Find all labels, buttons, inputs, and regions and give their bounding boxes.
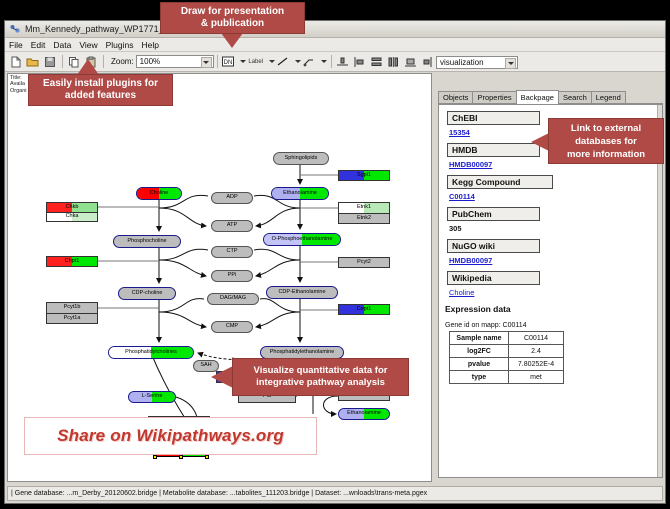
node-ppi[interactable]: PPi — [211, 270, 253, 282]
expr-key-log2fc: log2FC — [450, 345, 509, 358]
node-sgpl1[interactable]: Sgpl1 — [338, 170, 390, 181]
menu-item-help[interactable]: Help — [142, 40, 159, 50]
align-bottom-icon[interactable] — [403, 54, 418, 69]
gene-id-on-mapp: Gene id on mapp: C00114 — [445, 322, 662, 329]
zoom-value: 100% — [140, 57, 160, 66]
node-choline-top[interactable]: Choline — [136, 187, 182, 200]
table-row: type met — [450, 371, 564, 384]
db-link-kegg[interactable]: C00114 — [449, 192, 662, 201]
tab-objects[interactable]: Objects — [438, 91, 473, 103]
node-pcyt1b[interactable]: Pcyt1b — [46, 302, 98, 313]
pathvisio-icon — [9, 23, 21, 35]
line-tool[interactable] — [276, 54, 301, 69]
open-folder-icon[interactable] — [25, 54, 40, 69]
expression-table: Sample name C00114 log2FC 2.4 pvalue 7.8… — [449, 331, 564, 384]
node-cept1[interactable]: Cept1 — [338, 304, 390, 315]
chevron-down-icon[interactable] — [505, 58, 516, 69]
toolbar-separator — [217, 55, 218, 68]
datanode-icon[interactable]: DN — [221, 54, 236, 69]
callout-link: Link to external databases for more info… — [548, 118, 664, 164]
share-banner: Share on Wikipathways.org — [24, 417, 317, 455]
tab-search[interactable]: Search — [558, 91, 592, 103]
expr-val-sample: C00114 — [509, 332, 564, 345]
callout-plugins-line2: added features — [65, 90, 136, 102]
menu-item-edit[interactable]: Edit — [31, 40, 46, 50]
db-header-hmdb: HMDB — [447, 143, 540, 157]
db-header-nugo: NuGO wiki — [447, 239, 540, 253]
label-icon[interactable]: Label — [247, 54, 265, 69]
align-left-icon[interactable] — [352, 54, 367, 69]
expr-key-pvalue: pvalue — [450, 358, 509, 371]
callout-visualize-line1: Visualize quantitative data for — [254, 365, 388, 377]
callout-link-arrow-icon — [531, 133, 549, 151]
label-tool[interactable]: Label — [247, 54, 275, 69]
db-header-wikipedia: Wikipedia — [447, 271, 540, 285]
visualization-combo[interactable]: visualization — [436, 56, 518, 69]
expr-val-pvalue: 7.80252E-4 — [509, 358, 564, 371]
expression-data-title: Expression data — [445, 304, 662, 314]
callout-visualize: Visualize quantitative data for integrat… — [232, 358, 409, 396]
toolbar-separator — [103, 55, 104, 68]
align-right-icon[interactable] — [420, 54, 435, 69]
db-header-pubchem: PubChem — [447, 207, 540, 221]
node-l-serine-left[interactable]: L-Serine — [128, 391, 176, 403]
interaction-tool[interactable] — [302, 54, 327, 69]
node-chkb[interactable]: Chkb — [46, 202, 98, 212]
db-value-pubchem: 305 — [449, 224, 662, 233]
expr-val-type: met — [509, 371, 564, 384]
callout-draw-arrow-icon — [221, 33, 243, 48]
callout-plugins-arrow-icon — [77, 59, 99, 75]
expr-key-sample: Sample name — [450, 332, 509, 345]
node-adp[interactable]: ADP — [211, 192, 253, 204]
toolbar-separator — [331, 55, 332, 68]
callout-link-line1: Link to external — [571, 122, 641, 135]
node-phosphocholine[interactable]: Phosphocholine — [113, 235, 181, 248]
node-ctp[interactable]: CTP — [211, 246, 253, 258]
tab-legend[interactable]: Legend — [591, 91, 626, 103]
side-panel-tabs[interactable]: Objects Properties Backpage Search Legen… — [438, 90, 663, 104]
tab-backpage[interactable]: Backpage — [516, 90, 559, 104]
zoom-combo[interactable]: 100% — [136, 55, 214, 68]
table-row: log2FC 2.4 — [450, 345, 564, 358]
menu-item-data[interactable]: Data — [53, 40, 71, 50]
line-icon[interactable] — [276, 54, 291, 69]
status-bar-text: | Gene database: ...m_Derby_20120602.bri… — [11, 490, 427, 497]
node-phosphatidylcholines[interactable]: Phosphatidylcholines — [108, 346, 194, 359]
node-o-phosphoethanolamine[interactable]: O-Phosphoethanolamine — [263, 233, 341, 246]
callout-visualize-line2: integrative pathway analysis — [256, 377, 385, 389]
pathway-info: Title: Availa Organi — [10, 75, 27, 94]
share-banner-text: Share on Wikipathways.org — [57, 426, 284, 446]
table-row: pvalue 7.80252E-4 — [450, 358, 564, 371]
new-file-icon[interactable] — [8, 54, 23, 69]
callout-draw-line2: & publication — [201, 18, 264, 30]
menu-item-plugins[interactable]: Plugins — [106, 40, 134, 50]
callout-draw: Draw for presentation & publication — [160, 2, 305, 34]
menu-bar[interactable]: File Edit Data View Plugins Help — [5, 38, 665, 52]
node-chpt1[interactable]: Chpt1 — [46, 256, 98, 267]
expr-key-type: type — [450, 371, 509, 384]
distribute-horizontal-icon[interactable] — [386, 54, 401, 69]
callout-link-line2: databases for — [575, 135, 637, 148]
screenshot-root: Mm_Kennedy_pathway_WP1771_45176.gpml Fil… — [0, 0, 670, 509]
callout-plugins-line1: Easily install plugins for — [43, 78, 158, 90]
pathway-info-organism: Organi — [10, 88, 27, 94]
zoom-label: Zoom: — [111, 57, 134, 66]
db-header-kegg: Kegg Compound — [447, 175, 553, 189]
callout-link-line3: more information — [567, 148, 645, 161]
expr-val-log2fc: 2.4 — [509, 345, 564, 358]
node-sphingolipids[interactable]: Sphingolipids — [273, 152, 329, 165]
callout-plugins: Easily install plugins for added feature… — [28, 74, 173, 106]
save-icon[interactable] — [42, 54, 57, 69]
table-row: Sample name C00114 — [450, 332, 564, 345]
node-etnk2[interactable]: Etnk2 — [338, 213, 390, 224]
node-ethanolamine-right[interactable]: Ethanolamine — [338, 408, 390, 420]
node-dag-mag[interactable]: DAG/MAG — [207, 293, 259, 305]
node-atp[interactable]: ATP — [211, 220, 253, 232]
align-top-icon[interactable] — [335, 54, 350, 69]
toolbar[interactable]: Zoom: 100% DN Label — [5, 52, 665, 72]
svg-text:DN: DN — [224, 60, 233, 66]
node-ethanolamine[interactable]: Ethanolamine — [271, 187, 329, 200]
distribute-vertical-icon[interactable] — [369, 54, 384, 69]
window-titlebar: Mm_Kennedy_pathway_WP1771_45176.gpml — [5, 21, 665, 38]
node-pcyt1a[interactable]: Pcyt1a — [46, 313, 98, 324]
db-header-chebi: ChEBI — [447, 111, 540, 125]
callout-draw-line1: Draw for presentation — [181, 6, 284, 18]
chevron-down-icon[interactable] — [201, 57, 212, 68]
status-bar: | Gene database: ...m_Derby_20120602.bri… — [7, 486, 663, 501]
node-cdp-choline[interactable]: CDP-choline — [118, 287, 176, 300]
menu-item-view[interactable]: View — [79, 40, 97, 50]
node-etnk1[interactable]: Etnk1 — [338, 202, 390, 213]
node-cmp[interactable]: CMP — [211, 321, 253, 333]
toolbar-separator — [62, 55, 63, 68]
menu-item-file[interactable]: File — [9, 40, 23, 50]
node-pcyt2[interactable]: Pcyt2 — [338, 257, 390, 268]
interaction-icon[interactable] — [302, 54, 317, 69]
pathway-info-available: Availa — [10, 81, 27, 87]
tab-properties[interactable]: Properties — [472, 91, 516, 103]
node-chka[interactable]: Chka — [46, 212, 98, 222]
db-link-wikipedia[interactable]: Choline — [449, 288, 662, 297]
callout-visualize-arrow-icon — [211, 366, 233, 388]
visualization-value: visualization — [440, 58, 484, 67]
datanode-tool[interactable]: DN — [221, 54, 246, 69]
db-link-nugo[interactable]: HMDB00097 — [449, 256, 662, 265]
node-cdp-ethanolamine[interactable]: CDP-Ethanolamine — [266, 286, 338, 299]
